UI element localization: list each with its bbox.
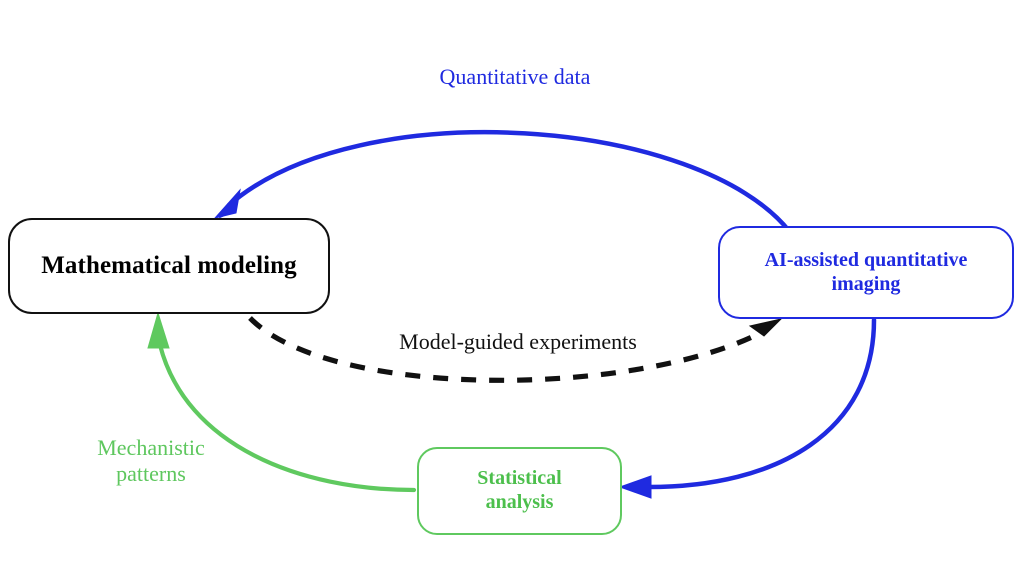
node-ai-assisted-quantitative-imaging-label: AI-assisted quantitative imaging xyxy=(765,249,968,296)
diagram-canvas: Mathematical modeling AI-assisted quanti… xyxy=(0,0,1024,576)
node-ai-assisted-quantitative-imaging[interactable]: AI-assisted quantitative imaging xyxy=(718,226,1014,319)
edge-quantitative-data-curve xyxy=(229,132,790,232)
node-mathematical-modeling[interactable]: Mathematical modeling xyxy=(8,218,330,314)
node-mathematical-modeling-label: Mathematical modeling xyxy=(41,251,297,281)
edge-mechanistic-patterns-arrowhead xyxy=(148,313,169,348)
edge-label-mechanistic-patterns: Mechanistic patterns xyxy=(56,435,246,488)
edge-imaging-to-statistics-arrowhead xyxy=(620,476,651,498)
edge-label-quantitative-data: Quantitative data xyxy=(390,64,640,90)
node-statistical-analysis[interactable]: Statistical analysis xyxy=(417,447,622,535)
edge-quantitative-data-arrowhead-fill xyxy=(215,190,240,218)
node-statistical-analysis-label: Statistical analysis xyxy=(477,467,561,514)
edge-imaging-to-statistics-curve xyxy=(645,320,874,487)
edge-model-guided-experiments-arrowhead xyxy=(750,319,781,336)
edge-label-model-guided-experiments: Model-guided experiments xyxy=(368,329,668,355)
